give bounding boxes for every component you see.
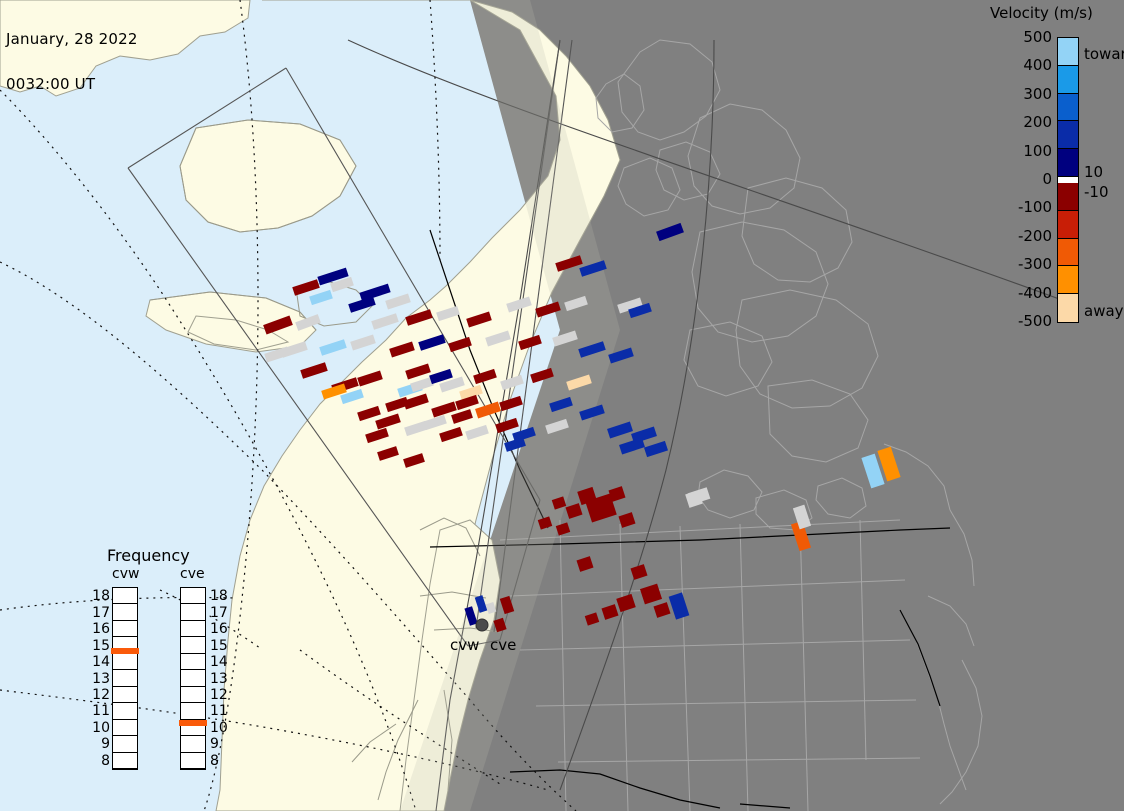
colorbar-segment: [1058, 294, 1078, 322]
colorbar-tick: 0: [1042, 170, 1052, 188]
frequency-legend: Frequency cvw cve 1818171716161515141413…: [96, 546, 246, 786]
colorbar-inner-low-label: -10: [1084, 183, 1109, 201]
frequency-tick-right: 11: [210, 703, 228, 719]
frequency-tick-left: 12: [86, 687, 110, 703]
frequency-tick-left: 18: [86, 588, 110, 604]
colorbar-segment: [1058, 149, 1078, 177]
colorbar-tick: 300: [1023, 85, 1052, 103]
colorbar-toward-label: toward: [1084, 45, 1124, 63]
radar-map-canvas: cvw cve January, 28 2022 0032:00 UT Velo…: [0, 0, 1124, 811]
frequency-bar-cvw: [112, 587, 138, 770]
frequency-tick-right: 13: [210, 671, 228, 687]
colorbar-segment: [1058, 38, 1078, 66]
colorbar-tick: -400: [1018, 284, 1052, 302]
frequency-tick-right: 18: [210, 588, 228, 604]
colorbar-gradient: [1057, 37, 1079, 323]
radar-site-marker: [476, 619, 488, 631]
frequency-tick-right: 14: [210, 654, 228, 670]
frequency-cell: [113, 720, 137, 736]
frequency-column-label-cvw: cvw: [112, 566, 139, 582]
frequency-bar-cve: [180, 587, 206, 770]
colorbar-segment: [1058, 121, 1078, 149]
frequency-tick-left: 15: [86, 638, 110, 654]
frequency-tick-left: 11: [86, 703, 110, 719]
frequency-cell: [181, 621, 205, 637]
frequency-tick-right: 15: [210, 638, 228, 654]
frequency-cell: [113, 670, 137, 686]
colorbar-segment: [1058, 239, 1078, 267]
colorbar-segment: [1058, 266, 1078, 294]
frequency-column-label-cve: cve: [180, 566, 205, 582]
frequency-marker: [179, 720, 207, 726]
frequency-cell: [113, 687, 137, 703]
frequency-tick-left: 13: [86, 671, 110, 687]
colorbar-segment: [1058, 211, 1078, 239]
frequency-cell: [113, 736, 137, 752]
frequency-cell: [113, 604, 137, 620]
station-label-cvw: cvw: [450, 636, 479, 654]
frequency-cell: [181, 753, 205, 769]
frequency-legend-title: Frequency: [107, 546, 190, 565]
frequency-marker: [111, 648, 139, 654]
frequency-tick-left: 16: [86, 621, 110, 637]
frequency-tick-left: 8: [86, 753, 110, 769]
frequency-cell: [181, 703, 205, 719]
colorbar-tick: -500: [1018, 312, 1052, 330]
colorbar-tick: 100: [1023, 142, 1052, 160]
frequency-tick-left: 14: [86, 654, 110, 670]
station-label-cve: cve: [490, 636, 516, 654]
colorbar-tick: 500: [1023, 28, 1052, 46]
colorbar-tick: 200: [1023, 113, 1052, 131]
frequency-cell: [181, 588, 205, 604]
timestamp-date: January, 28 2022: [6, 32, 138, 47]
frequency-cell: [181, 654, 205, 670]
frequency-tick-right: 12: [210, 687, 228, 703]
frequency-cell: [113, 703, 137, 719]
colorbar-title: Velocity (m/s): [990, 4, 1093, 22]
frequency-cell: [181, 670, 205, 686]
frequency-tick-right: 8: [210, 753, 219, 769]
colorbar-segment: [1058, 66, 1078, 94]
timestamp-block: January, 28 2022 0032:00 UT: [6, 2, 138, 122]
colorbar-tick: -300: [1018, 255, 1052, 273]
frequency-tick-right: 9: [210, 736, 219, 752]
colorbar-segment: [1058, 183, 1078, 211]
frequency-cell: [113, 621, 137, 637]
colorbar-inner-high-label: 10: [1084, 163, 1103, 181]
frequency-cell: [113, 588, 137, 604]
colorbar-away-label: away: [1084, 302, 1124, 320]
frequency-tick-right: 17: [210, 605, 228, 621]
velocity-colorbar: Velocity (m/s) 5004003002001000-100-200-…: [986, 0, 1124, 340]
frequency-cell: [181, 637, 205, 653]
frequency-cell: [113, 654, 137, 670]
frequency-cell: [181, 736, 205, 752]
colorbar-segment: [1058, 94, 1078, 122]
frequency-cell: [113, 753, 137, 769]
frequency-tick-right: 10: [210, 720, 228, 736]
frequency-tick-left: 17: [86, 605, 110, 621]
colorbar-tick: 400: [1023, 56, 1052, 74]
colorbar-tick: -100: [1018, 198, 1052, 216]
frequency-cell: [181, 687, 205, 703]
timestamp-time: 0032:00 UT: [6, 77, 138, 92]
frequency-tick-left: 9: [86, 736, 110, 752]
colorbar-tick: -200: [1018, 227, 1052, 245]
frequency-tick-right: 16: [210, 621, 228, 637]
frequency-tick-left: 10: [86, 720, 110, 736]
frequency-cell: [181, 604, 205, 620]
